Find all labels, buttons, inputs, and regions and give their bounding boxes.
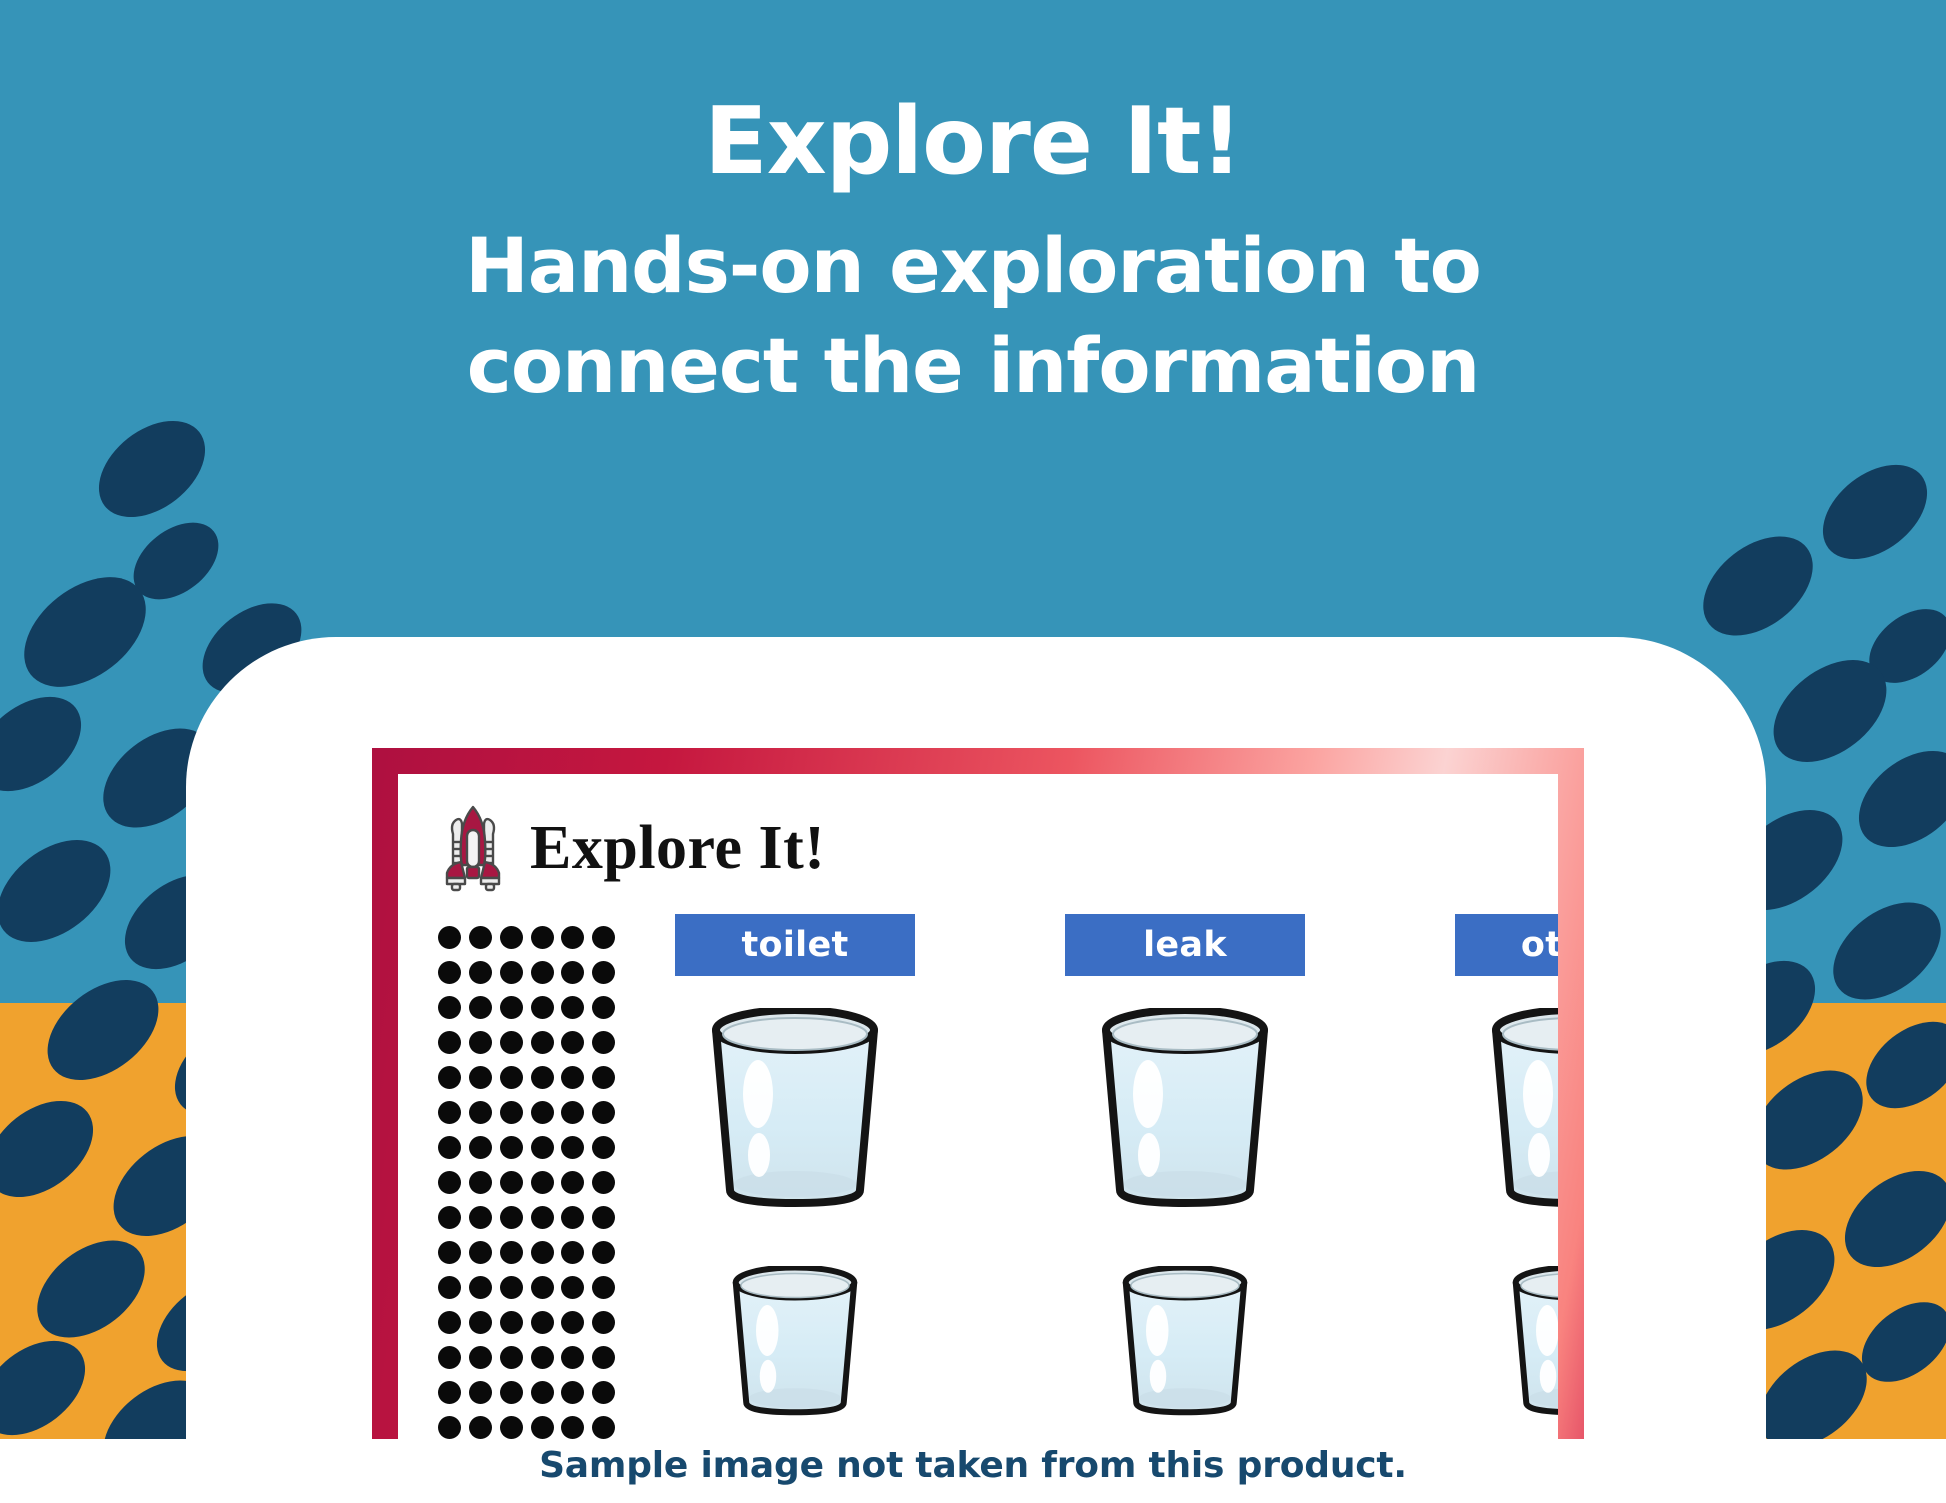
counting-dot [592, 1276, 615, 1299]
glass-column-leak: leak [1050, 914, 1320, 1416]
counting-dot [469, 996, 492, 1019]
counting-dot [500, 1031, 523, 1054]
counting-dot [561, 1206, 584, 1229]
counting-dot [438, 926, 461, 949]
counting-dot [531, 1416, 554, 1439]
counting-dot [469, 1136, 492, 1159]
counting-dot [561, 961, 584, 984]
counting-dot [531, 1381, 554, 1404]
counting-dot [438, 1066, 461, 1089]
counting-dot [469, 1381, 492, 1404]
glass-slot-row-2[interactable] [660, 1266, 930, 1416]
counting-dot [500, 1136, 523, 1159]
category-badge-other[interactable]: other [1455, 914, 1558, 976]
counting-dot [531, 1206, 554, 1229]
counting-dot [561, 996, 584, 1019]
category-badge-label: other [1521, 925, 1558, 965]
counting-dot [500, 996, 523, 1019]
counting-dot [438, 1381, 461, 1404]
worksheet-page: Explore It! toilet [398, 774, 1558, 1503]
counting-dot [500, 926, 523, 949]
counting-dot [592, 1136, 615, 1159]
counting-dot [592, 1066, 615, 1089]
counting-dot [438, 1136, 461, 1159]
sample-caption: Sample image not taken from this product… [0, 1439, 1946, 1503]
sample-caption-text: Sample image not taken from this product… [539, 1445, 1407, 1486]
headline-subtitle-line-2: connect the information [0, 316, 1946, 416]
counting-dot [592, 961, 615, 984]
counting-dot [561, 1346, 584, 1369]
counting-dot [438, 1031, 461, 1054]
counting-dot [438, 961, 461, 984]
glass-slot-row-1[interactable] [660, 1008, 930, 1208]
counting-dot [438, 1416, 461, 1439]
water-glass [1090, 1008, 1280, 1208]
counting-dot [561, 1276, 584, 1299]
counting-dot [531, 1311, 554, 1334]
counting-dot [561, 1101, 584, 1124]
glass-column-toilet: toilet [660, 914, 930, 1416]
counting-dot [500, 1416, 523, 1439]
counting-dot [469, 1101, 492, 1124]
category-badge-toilet[interactable]: toilet [675, 914, 915, 976]
counting-dot [592, 1171, 615, 1194]
counting-dot [531, 1101, 554, 1124]
counting-dot [500, 961, 523, 984]
water-glass [1480, 1008, 1558, 1208]
counting-dot [561, 1241, 584, 1264]
counting-dot [438, 1241, 461, 1264]
counting-dot [469, 1346, 492, 1369]
headline-subtitle-line-1: Hands-on exploration to [0, 216, 1946, 316]
counting-dot [592, 1031, 615, 1054]
counting-dot [561, 1381, 584, 1404]
counting-dot [531, 926, 554, 949]
rocket-icon [444, 804, 502, 892]
counting-dot [531, 961, 554, 984]
counting-dot [469, 1171, 492, 1194]
category-badge-label: toilet [741, 925, 848, 965]
worksheet-frame: Explore It! toilet [372, 748, 1584, 1503]
counting-dot [561, 1031, 584, 1054]
counting-dot-grid [438, 926, 616, 1503]
counting-dot [469, 926, 492, 949]
counting-dot [438, 996, 461, 1019]
headline-block: Explore It! Hands-on exploration to conn… [0, 95, 1946, 417]
glass-slot-row-2[interactable] [1440, 1266, 1558, 1416]
counting-dot [561, 1066, 584, 1089]
counting-dot [500, 1101, 523, 1124]
glass-slot-row-1[interactable] [1050, 1008, 1320, 1208]
counting-dot [592, 996, 615, 1019]
counting-dot [531, 1346, 554, 1369]
worksheet-header: Explore It! [444, 804, 825, 892]
counting-dot [469, 1311, 492, 1334]
glass-slot-row-1[interactable] [1440, 1008, 1558, 1208]
counting-dot [592, 1416, 615, 1439]
counting-dot [438, 1276, 461, 1299]
counting-dot [438, 1101, 461, 1124]
counting-dot [469, 1206, 492, 1229]
counting-dot [561, 926, 584, 949]
counting-dot [531, 1031, 554, 1054]
glass-column-other: other [1440, 914, 1558, 1416]
counting-dot [531, 1241, 554, 1264]
counting-dot [561, 1171, 584, 1194]
counting-dot [500, 1241, 523, 1264]
counting-dot [469, 1416, 492, 1439]
counting-dot [592, 1346, 615, 1369]
counting-dot [531, 1136, 554, 1159]
glass-slot-row-2[interactable] [1050, 1266, 1320, 1416]
counting-dot [500, 1381, 523, 1404]
counting-dot [438, 1171, 461, 1194]
counting-dot [438, 1206, 461, 1229]
counting-dot [469, 1066, 492, 1089]
counting-dot [592, 1311, 615, 1334]
counting-dot [500, 1066, 523, 1089]
counting-dot [592, 1241, 615, 1264]
counting-dot [531, 1066, 554, 1089]
water-glass [700, 1008, 890, 1208]
worksheet-title: Explore It! [530, 817, 825, 879]
counting-dot [592, 1206, 615, 1229]
counting-dot [531, 1171, 554, 1194]
counting-dot [438, 1346, 461, 1369]
counting-dot [561, 1311, 584, 1334]
counting-dot [531, 1276, 554, 1299]
headline-title: Explore It! [0, 95, 1946, 188]
category-badge-label: leak [1143, 925, 1227, 965]
water-glass [700, 1266, 890, 1416]
counting-dot [438, 1311, 461, 1334]
counting-dot [469, 1241, 492, 1264]
counting-dot [469, 1276, 492, 1299]
glass-columns-area: toilet leak [638, 914, 1528, 1503]
counting-dot [469, 1031, 492, 1054]
counting-dot [531, 996, 554, 1019]
counting-dot [500, 1311, 523, 1334]
counting-dot [592, 1381, 615, 1404]
counting-dot [592, 926, 615, 949]
water-glass [1480, 1266, 1558, 1416]
counting-dot [500, 1276, 523, 1299]
category-badge-leak[interactable]: leak [1065, 914, 1305, 976]
counting-dot [500, 1346, 523, 1369]
counting-dot [500, 1206, 523, 1229]
counting-dot [592, 1101, 615, 1124]
counting-dot [500, 1171, 523, 1194]
counting-dot [469, 961, 492, 984]
water-glass [1090, 1266, 1280, 1416]
counting-dot [561, 1416, 584, 1439]
counting-dot [561, 1136, 584, 1159]
